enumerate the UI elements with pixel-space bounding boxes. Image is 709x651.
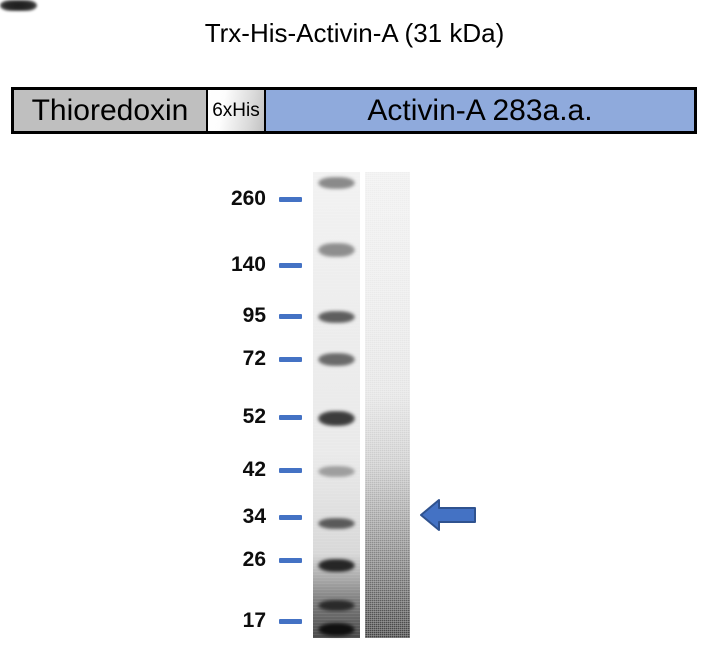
marker-tick bbox=[279, 515, 302, 520]
marker-72-kda: 72 bbox=[222, 348, 302, 370]
ladder-band bbox=[318, 243, 355, 257]
marker-260-kda: 260 bbox=[222, 188, 302, 210]
ladder-band bbox=[318, 600, 355, 611]
marker-26-kda: 26 bbox=[222, 549, 302, 571]
ladder-band bbox=[318, 177, 355, 189]
marker-tick bbox=[279, 468, 302, 473]
sample-lane bbox=[365, 172, 410, 638]
domain-activin-a: Activin-A 283a.a. bbox=[266, 90, 694, 131]
marker-label: 42 bbox=[243, 459, 266, 481]
marker-42-kda: 42 bbox=[222, 459, 302, 481]
marker-label: 72 bbox=[243, 348, 266, 370]
marker-140-kda: 140 bbox=[222, 254, 302, 276]
marker-34-kda: 34 bbox=[222, 506, 302, 528]
marker-label: 17 bbox=[243, 610, 266, 632]
ladder-band bbox=[318, 466, 355, 477]
marker-tick bbox=[279, 357, 302, 362]
marker-label: 260 bbox=[231, 188, 266, 210]
marker-tick bbox=[279, 415, 302, 420]
ladder-band bbox=[318, 411, 355, 426]
marker-label: 95 bbox=[243, 305, 266, 327]
marker-label: 26 bbox=[243, 549, 266, 571]
ladder-band bbox=[318, 311, 355, 323]
marker-label: 140 bbox=[231, 254, 266, 276]
left-arrow-icon bbox=[419, 496, 477, 534]
sample-lane-texture bbox=[365, 172, 410, 638]
domain-6xhis-tag: 6xHis bbox=[208, 90, 266, 131]
target-protein-band bbox=[0, 0, 37, 11]
marker-label: 52 bbox=[243, 406, 266, 428]
marker-label: 34 bbox=[243, 506, 266, 528]
ladder-lane bbox=[313, 172, 360, 638]
domain-thioredoxin: Thioredoxin bbox=[14, 90, 208, 131]
marker-tick bbox=[279, 263, 302, 268]
marker-tick bbox=[279, 197, 302, 202]
construct-diagram: Thioredoxin 6xHis Activin-A 283a.a. bbox=[11, 87, 697, 134]
ladder-band bbox=[318, 623, 355, 636]
marker-tick bbox=[279, 619, 302, 624]
marker-17-kda: 17 bbox=[222, 610, 302, 632]
marker-52-kda: 52 bbox=[222, 406, 302, 428]
marker-95-kda: 95 bbox=[222, 305, 302, 327]
ladder-band bbox=[318, 518, 355, 529]
ladder-band bbox=[318, 353, 355, 366]
ladder-lane-texture bbox=[313, 172, 360, 638]
marker-tick bbox=[279, 314, 302, 319]
marker-tick bbox=[279, 558, 302, 563]
page-title: Trx-His-Activin-A (31 kDa) bbox=[0, 18, 709, 49]
ladder-band bbox=[318, 559, 355, 572]
